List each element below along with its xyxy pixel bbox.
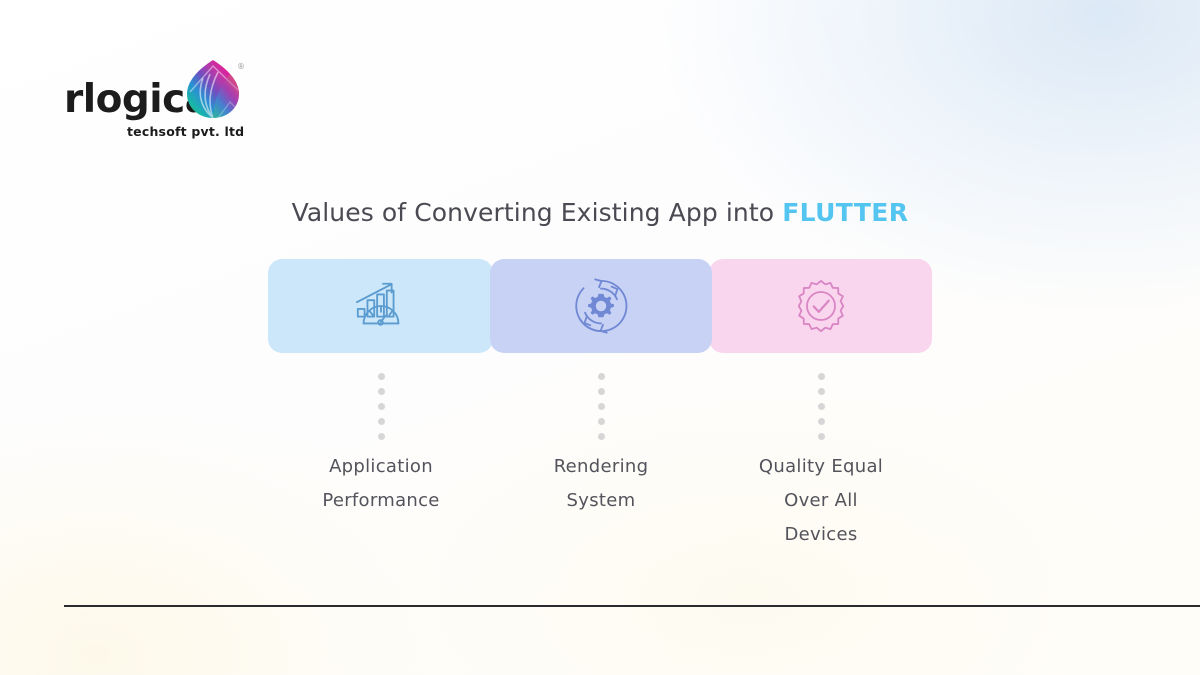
connector-dot — [598, 388, 605, 395]
performance-growth-chart-gauge-icon — [352, 277, 410, 335]
registered-trademark-icon: ® — [237, 62, 245, 71]
brand-logo[interactable]: rlogical techsoft pvt. ltd — [64, 58, 249, 134]
connector-dot — [378, 373, 385, 380]
brand-tagline: techsoft pvt. ltd — [127, 126, 244, 139]
connector-dots-rendering-system — [597, 373, 605, 440]
connector-dot — [818, 418, 825, 425]
value-label-quality-equal-over-all-devices: Quality Equal Over All Devices — [706, 450, 936, 552]
connector-dot — [598, 418, 605, 425]
connector-dot — [818, 388, 825, 395]
connector-dot — [378, 433, 385, 440]
connector-dot — [818, 373, 825, 380]
page-title-main: Values of Converting Existing App into — [292, 198, 783, 227]
connector-dot — [598, 373, 605, 380]
connector-dot — [818, 403, 825, 410]
connector-dots-application-performance — [377, 373, 385, 440]
gear-rotating-arrows-icon — [572, 277, 630, 335]
rainbow-leaf-logo-icon — [184, 58, 242, 120]
connector-dot — [598, 433, 605, 440]
connector-dot — [378, 418, 385, 425]
value-label-rendering-system: Rendering System — [486, 450, 716, 518]
quality-badge-checkmark-icon — [792, 277, 850, 335]
value-card-rendering-system[interactable] — [490, 259, 712, 353]
page-title-accent: FLUTTER — [782, 198, 908, 227]
connector-dots-quality-equal-over-all-devices — [817, 373, 825, 440]
connector-dot — [818, 433, 825, 440]
bottom-rule — [64, 605, 1200, 607]
page-title: Values of Converting Existing App into F… — [0, 198, 1200, 227]
value-card-application-performance[interactable] — [268, 259, 493, 353]
value-label-application-performance: Application Performance — [266, 450, 496, 518]
connector-dot — [378, 403, 385, 410]
connector-dot — [378, 388, 385, 395]
slide-canvas: rlogical techsoft pvt. ltd — [0, 0, 1200, 675]
value-card-quality-equal-over-all-devices[interactable] — [709, 259, 932, 353]
connector-dot — [598, 403, 605, 410]
value-cards-strip — [268, 259, 932, 353]
